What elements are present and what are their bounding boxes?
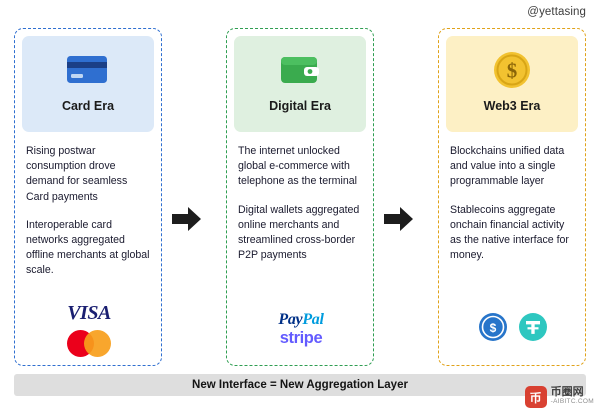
web3-era-body: Blockchains unified data and value into …	[450, 144, 576, 263]
web3-era-logos: $	[439, 303, 587, 355]
era-column-card[interactable]: Card Era Rising postwar consumption drov…	[14, 28, 162, 366]
footer-banner: New Interface = New Aggregation Layer	[14, 374, 586, 396]
digital-era-body: The internet unlocked global e-commerce …	[238, 144, 364, 263]
svg-text:$: $	[490, 321, 497, 335]
arrow-digital-to-web3	[384, 206, 414, 232]
infographic-root: @yettasing Card Era Rising postwar consu…	[0, 0, 600, 410]
era-column-digital[interactable]: Digital Era The internet unlocked global…	[226, 28, 374, 366]
arrow-card-to-digital	[172, 206, 202, 232]
card-era-header: Card Era	[22, 36, 154, 132]
wallet-icon	[276, 47, 324, 93]
card-era-paragraph-1: Rising postwar consumption drove demand …	[26, 144, 152, 205]
web3-era-header: $ Web3 Era	[446, 36, 578, 132]
digital-era-logos: PayPal stripe	[227, 303, 375, 355]
svg-text:$: $	[507, 59, 518, 83]
digital-era-paragraph-2: Digital wallets aggregated online mercha…	[238, 203, 364, 264]
watermark-badge: 币	[525, 386, 547, 408]
era-columns: Card Era Rising postwar consumption drov…	[0, 28, 600, 368]
card-era-body: Rising postwar consumption drove demand …	[26, 144, 152, 279]
watermark-url: -AIBITC.COM	[551, 397, 594, 407]
card-era-paragraph-2: Interoperable card networks aggregated o…	[26, 218, 152, 279]
author-handle: @yettasing	[527, 6, 586, 18]
footer-label: New Interface = New Aggregation Layer	[192, 379, 408, 391]
paypal-logo-text: PayPal	[278, 311, 323, 328]
card-era-title: Card Era	[62, 99, 114, 113]
web3-era-paragraph-1: Blockchains unified data and value into …	[450, 144, 576, 190]
card-era-logos: VISA	[15, 303, 163, 355]
era-column-web3[interactable]: $ Web3 Era Blockchains unified data and …	[438, 28, 586, 366]
watermark-name: 币圈网	[551, 387, 594, 397]
stablecoin-token-logo	[518, 312, 548, 347]
site-watermark: 币 币圈网 -AIBITC.COM	[525, 386, 594, 408]
visa-logo: VISA	[67, 302, 111, 325]
usdc-logo: $	[478, 312, 508, 347]
digital-era-paragraph-1: The internet unlocked global e-commerce …	[238, 144, 364, 190]
watermark-texts: 币圈网 -AIBITC.COM	[551, 387, 594, 407]
web3-era-title: Web3 Era	[484, 99, 541, 113]
digital-era-title: Digital Era	[269, 99, 331, 113]
paypal-logo: PayPal	[278, 311, 323, 328]
web3-era-paragraph-2: Stablecoins aggregate onchain financial …	[450, 203, 576, 264]
stripe-logo: stripe	[280, 329, 323, 347]
dollar-coin-icon: $	[488, 47, 536, 93]
digital-era-header: Digital Era	[234, 36, 366, 132]
credit-card-icon	[64, 47, 112, 93]
mastercard-yellow-circle	[84, 330, 111, 357]
mastercard-logo	[67, 330, 111, 357]
